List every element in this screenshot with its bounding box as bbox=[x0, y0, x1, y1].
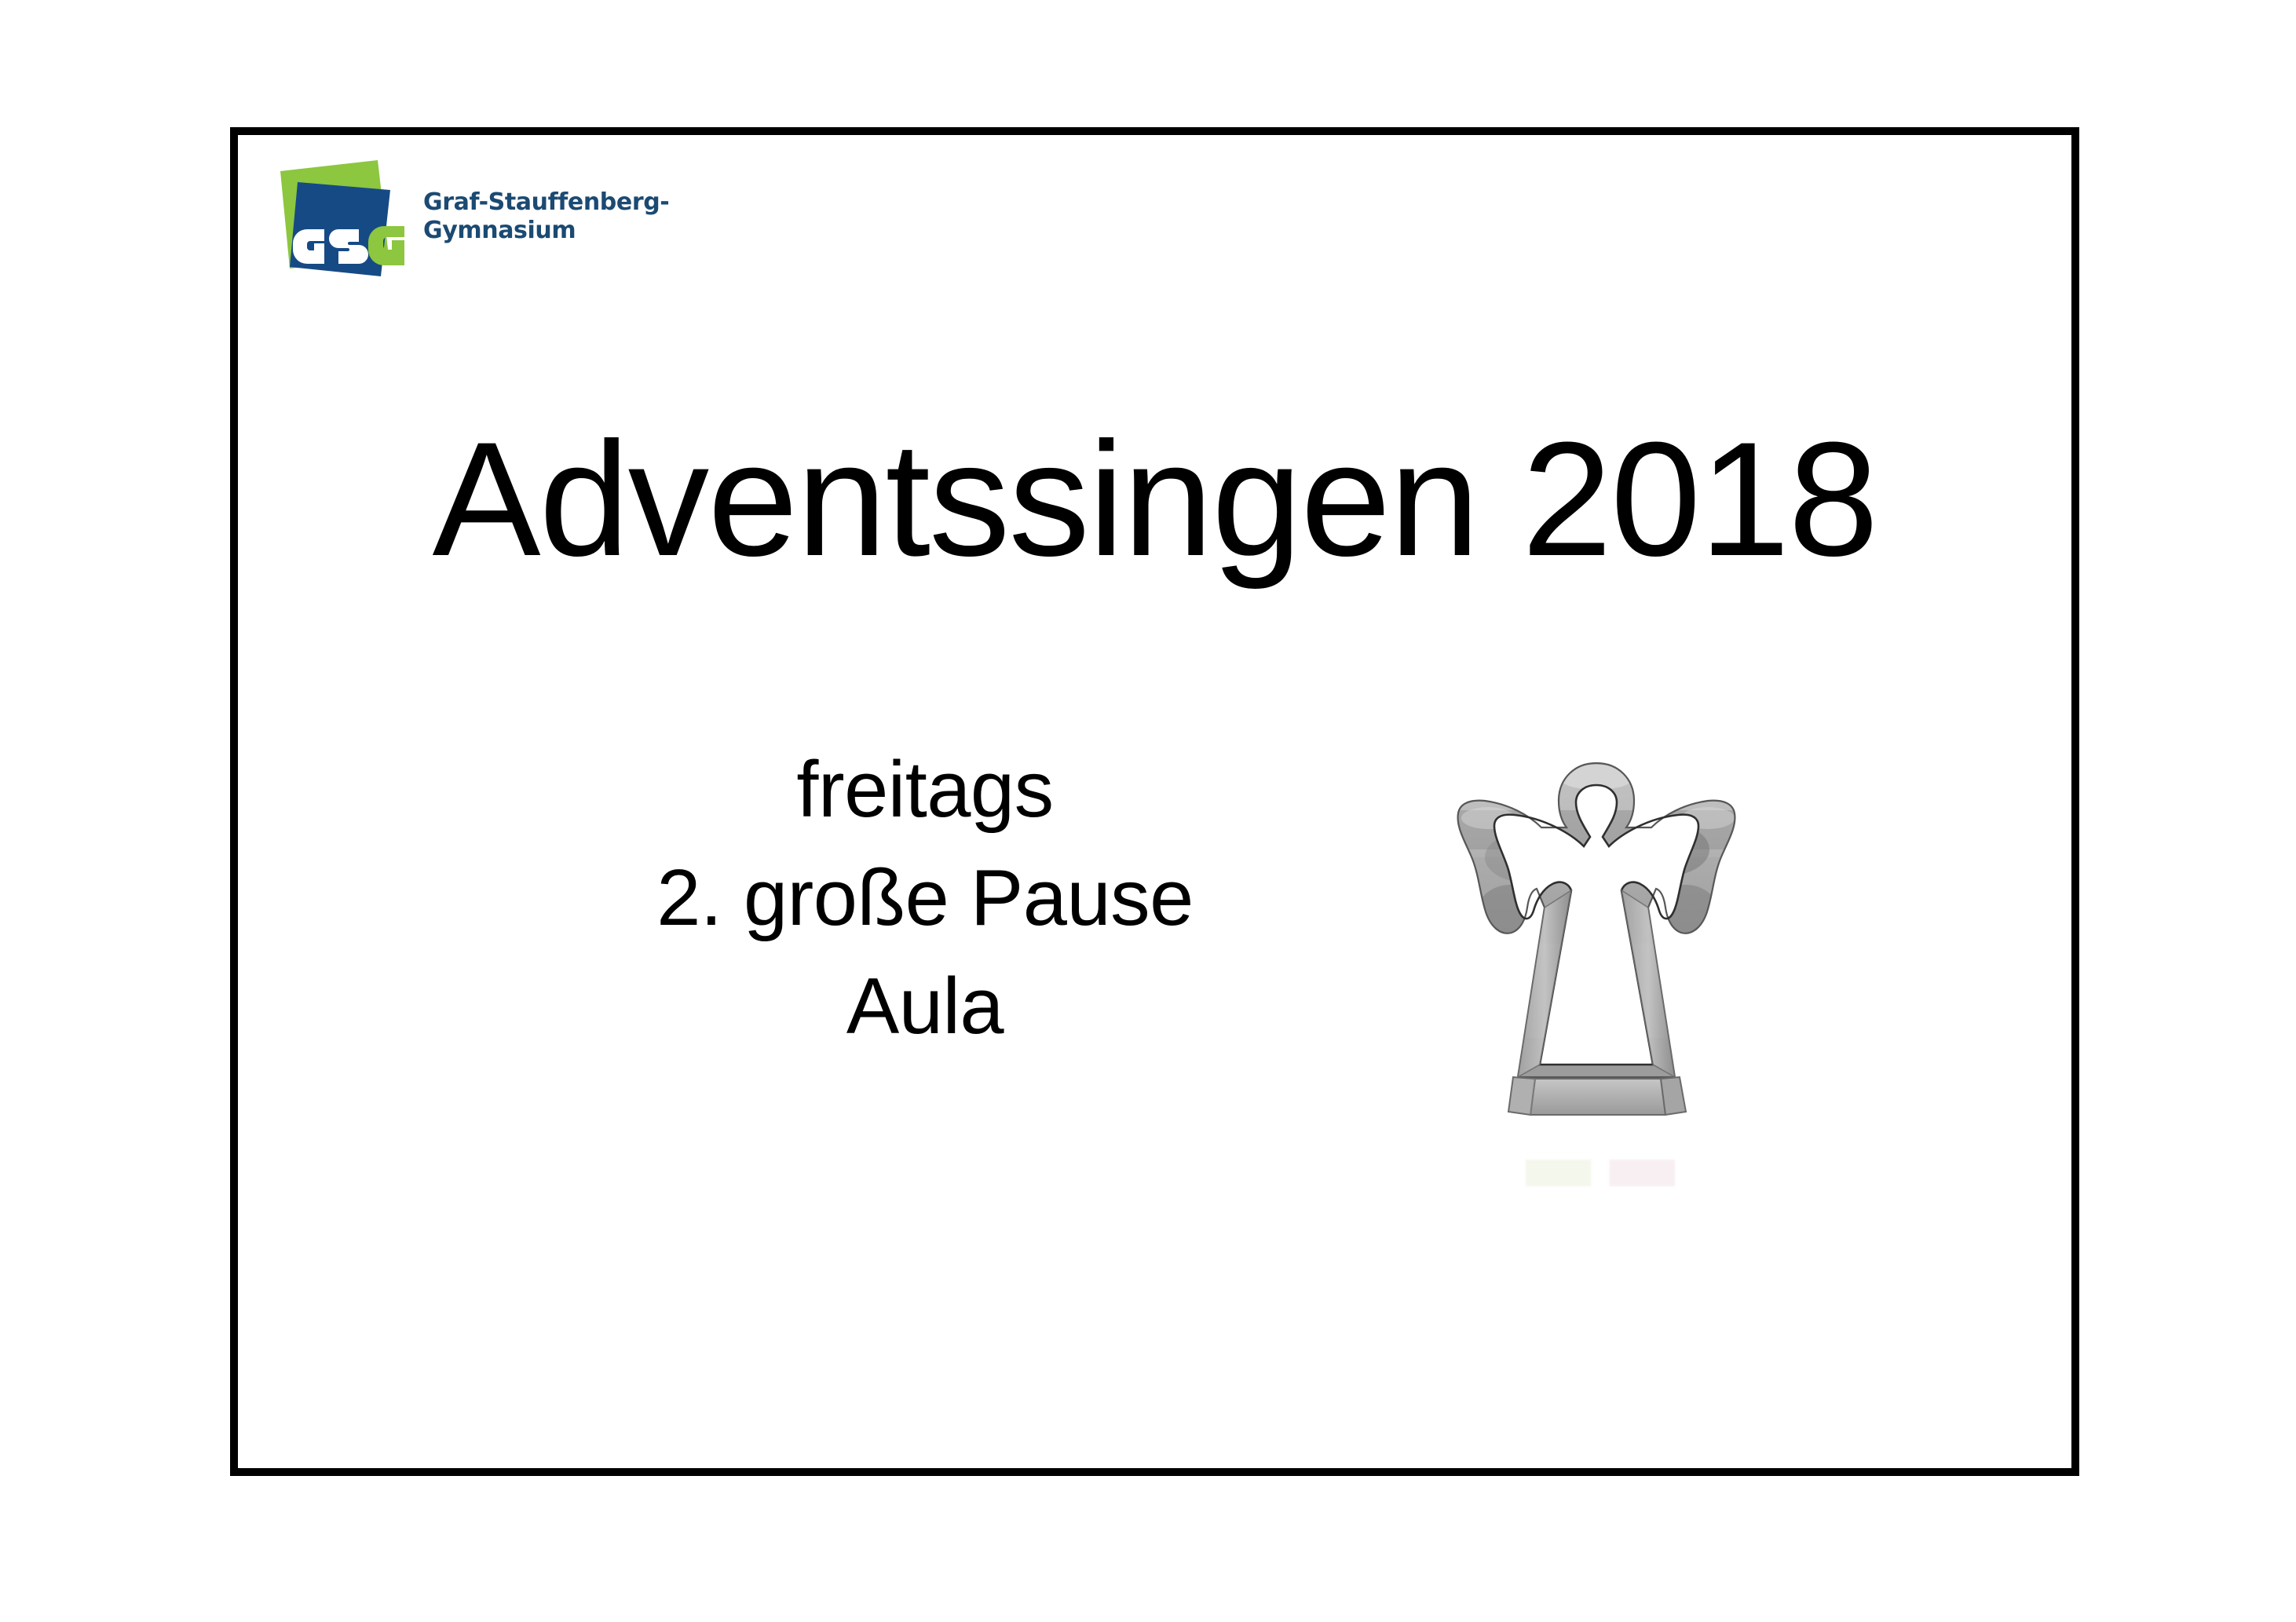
school-logo-text: Graf-Stauffenberg- Gymnasium bbox=[423, 188, 669, 245]
school-logo-text-line2: Gymnasium bbox=[423, 217, 669, 245]
gsg-logo-mark bbox=[266, 157, 415, 283]
event-details: freitags 2. große Pause Aula bbox=[379, 736, 1471, 1061]
detail-line-location: Aula bbox=[379, 952, 1471, 1061]
detail-line-weekday: freitags bbox=[379, 736, 1471, 844]
detail-line-time: 2. große Pause bbox=[379, 844, 1471, 952]
page-title: Adventssingen 2018 bbox=[238, 418, 2071, 580]
angel-image-watermark bbox=[1526, 1160, 1675, 1186]
school-logo-text-line1: Graf-Stauffenberg- bbox=[423, 188, 669, 217]
angel-base-strip bbox=[1508, 1077, 1686, 1115]
poster-frame: Graf-Stauffenberg- Gymnasium Adventssing… bbox=[230, 127, 2079, 1476]
angel-cookie-cutter-icon bbox=[1416, 740, 1777, 1156]
angel-cookie-cutter-image bbox=[1416, 740, 1777, 1156]
school-logo: Graf-Stauffenberg- Gymnasium bbox=[266, 157, 635, 283]
gsg-logo-svg bbox=[266, 157, 415, 283]
